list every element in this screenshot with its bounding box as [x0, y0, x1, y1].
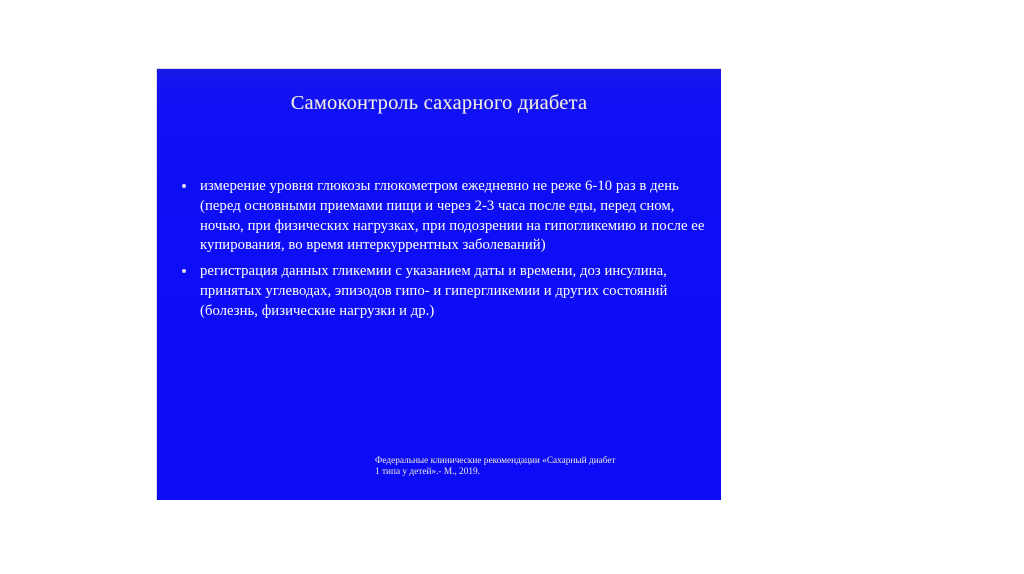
- list-item: регистрация данных гликемии с указанием …: [179, 262, 713, 321]
- bullet-text: регистрация данных гликемии с указанием …: [200, 262, 713, 321]
- source-citation: Федеральные клинические рекомендации «Са…: [375, 456, 705, 479]
- slide-title: Самоконтроль сахарного диабета: [157, 92, 721, 115]
- bullet-dot-icon: [179, 262, 200, 273]
- bullet-text: измерение уровня глюкозы глюкометром еже…: [200, 177, 713, 256]
- bullet-dot-icon: [179, 177, 200, 188]
- presentation-slide: Самоконтроль сахарного диабета измерение…: [156, 68, 721, 500]
- slide-canvas: Самоконтроль сахарного диабета измерение…: [0, 0, 1024, 574]
- list-item: измерение уровня глюкозы глюкометром еже…: [179, 177, 713, 256]
- bullet-list: измерение уровня глюкозы глюкометром еже…: [179, 177, 713, 328]
